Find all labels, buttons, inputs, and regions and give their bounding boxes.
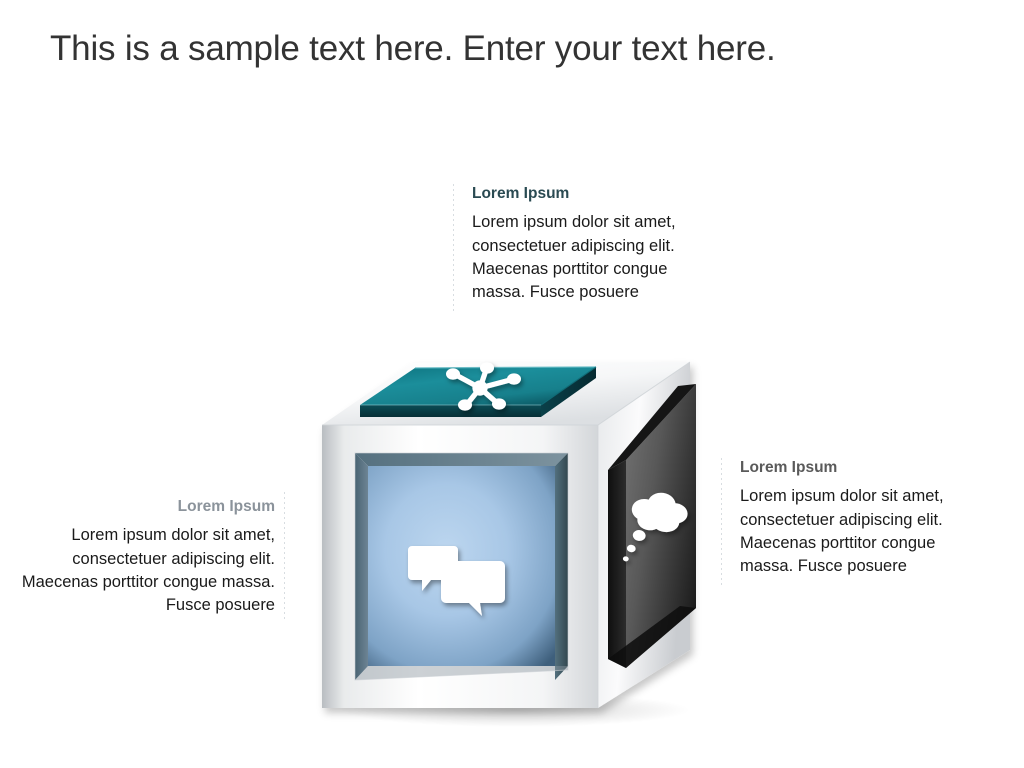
slide-canvas: This is a sample text here. Enter your t… — [0, 0, 1024, 768]
callout-right-body: Lorem ipsum dolor sit amet, consectetuer… — [740, 485, 990, 579]
page-title: This is a sample text here. Enter your t… — [50, 28, 950, 70]
front-blue-face — [355, 453, 568, 680]
callout-top-body: Lorem ipsum dolor sit amet, consectetuer… — [472, 211, 722, 305]
callout-top: Lorem Ipsum Lorem ipsum dolor sit amet, … — [472, 184, 722, 305]
callout-left: Lorem Ipsum Lorem ipsum dolor sit amet, … — [20, 497, 275, 618]
callout-divider-top — [453, 184, 454, 312]
callout-divider-left — [284, 492, 285, 620]
callout-top-heading: Lorem Ipsum — [472, 184, 722, 204]
callout-divider-right — [721, 458, 722, 586]
callout-left-body: Lorem ipsum dolor sit amet, consectetuer… — [20, 524, 275, 618]
callout-left-heading: Lorem Ipsum — [20, 497, 275, 517]
callout-right-heading: Lorem Ipsum — [740, 458, 990, 478]
callout-right: Lorem Ipsum Lorem ipsum dolor sit amet, … — [740, 458, 990, 579]
cube-diagram — [300, 318, 720, 730]
